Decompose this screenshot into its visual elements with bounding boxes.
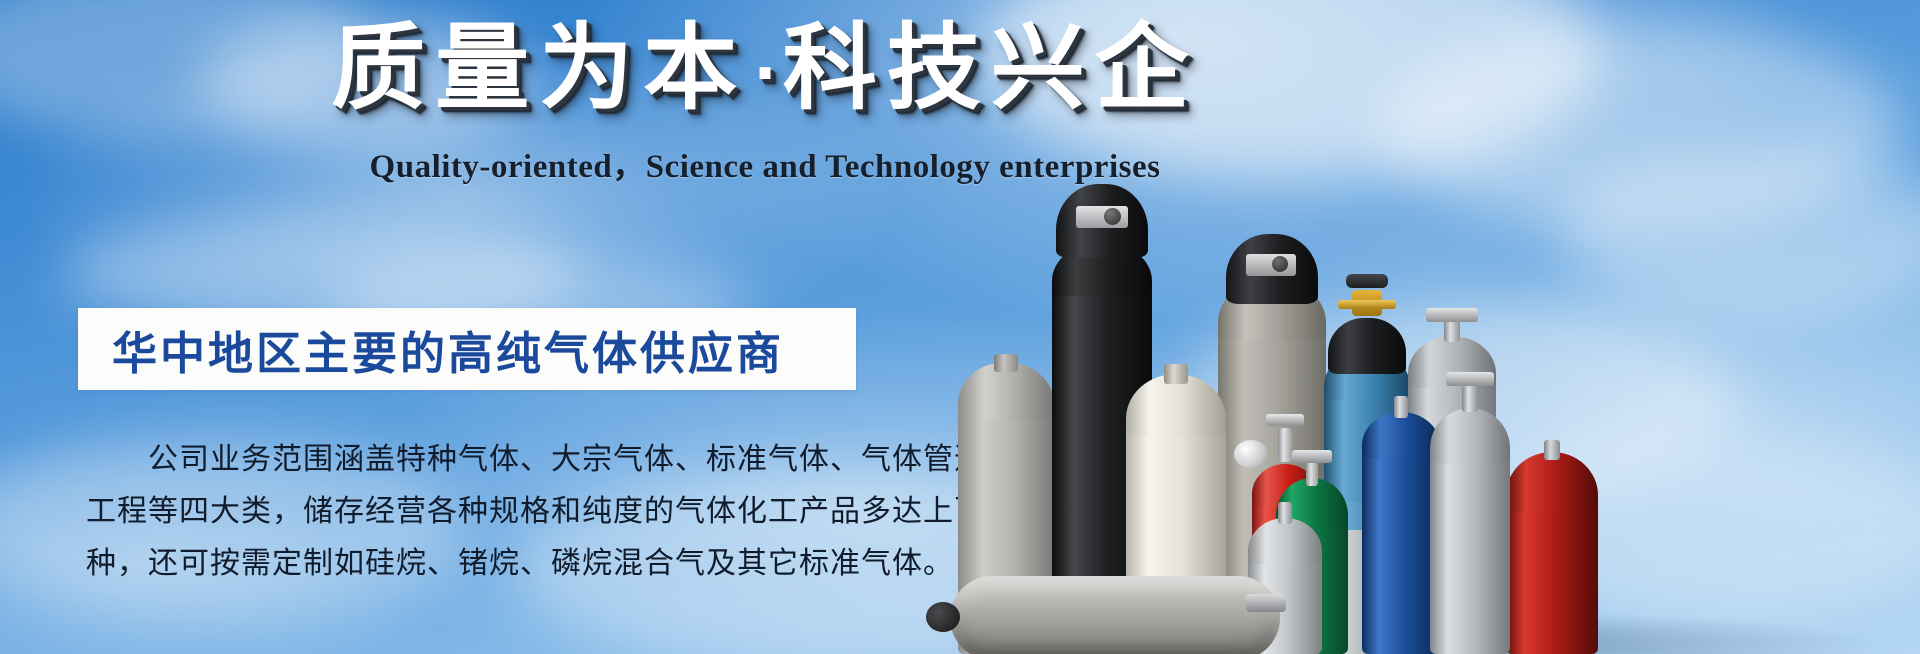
- cylinder-valve: [1426, 308, 1478, 322]
- regulator-gauge: [1234, 440, 1268, 468]
- promo-banner: 质量为本·科技兴企 Quality-oriented，Science and T…: [0, 0, 1920, 654]
- valve-cap: [1346, 274, 1388, 288]
- cylinder-valve: [1446, 372, 1494, 386]
- cylinder-horizontal-tank: [950, 576, 1280, 654]
- headline-part-1: 质量为本: [331, 14, 747, 123]
- paragraph-line: 工程等四大类，储存经营各种规格和纯度的气体化工产品多达上百: [86, 486, 876, 538]
- paragraph-line: 公司业务范围涵盖特种气体、大宗气体、标准气体、气体管道: [86, 434, 876, 486]
- brass-valve-arm: [1338, 300, 1396, 309]
- gas-cylinder-group-image: [930, 0, 1920, 654]
- cylinder-valve-knob: [1104, 208, 1121, 225]
- tank-valve: [1246, 594, 1286, 612]
- cylinder-red-large: [1506, 446, 1598, 654]
- paragraph-line: 种，还可按需定制如硅烷、锗烷、磷烷混合气及其它标准气体。: [86, 538, 876, 590]
- cylinder-blue-navy: [1362, 396, 1440, 654]
- cylinder-aluminum: [1430, 394, 1510, 654]
- cylinder-valve-knob: [1272, 256, 1288, 272]
- regulator-body: [1266, 414, 1304, 426]
- cylinder-valve: [1246, 254, 1296, 276]
- cylinder-valve: [1292, 450, 1332, 463]
- description-paragraph: 公司业务范围涵盖特种气体、大宗气体、标准气体、气体管道 工程等四大类，储存经营各…: [86, 434, 876, 590]
- highlight-text: 华中地区主要的高纯气体供应商: [112, 317, 784, 382]
- highlight-box: 华中地区主要的高纯气体供应商: [78, 308, 856, 390]
- cylinder-valve-guard: [1328, 318, 1406, 374]
- headline-separator: ·: [747, 37, 783, 110]
- tank-end-cap: [926, 602, 960, 632]
